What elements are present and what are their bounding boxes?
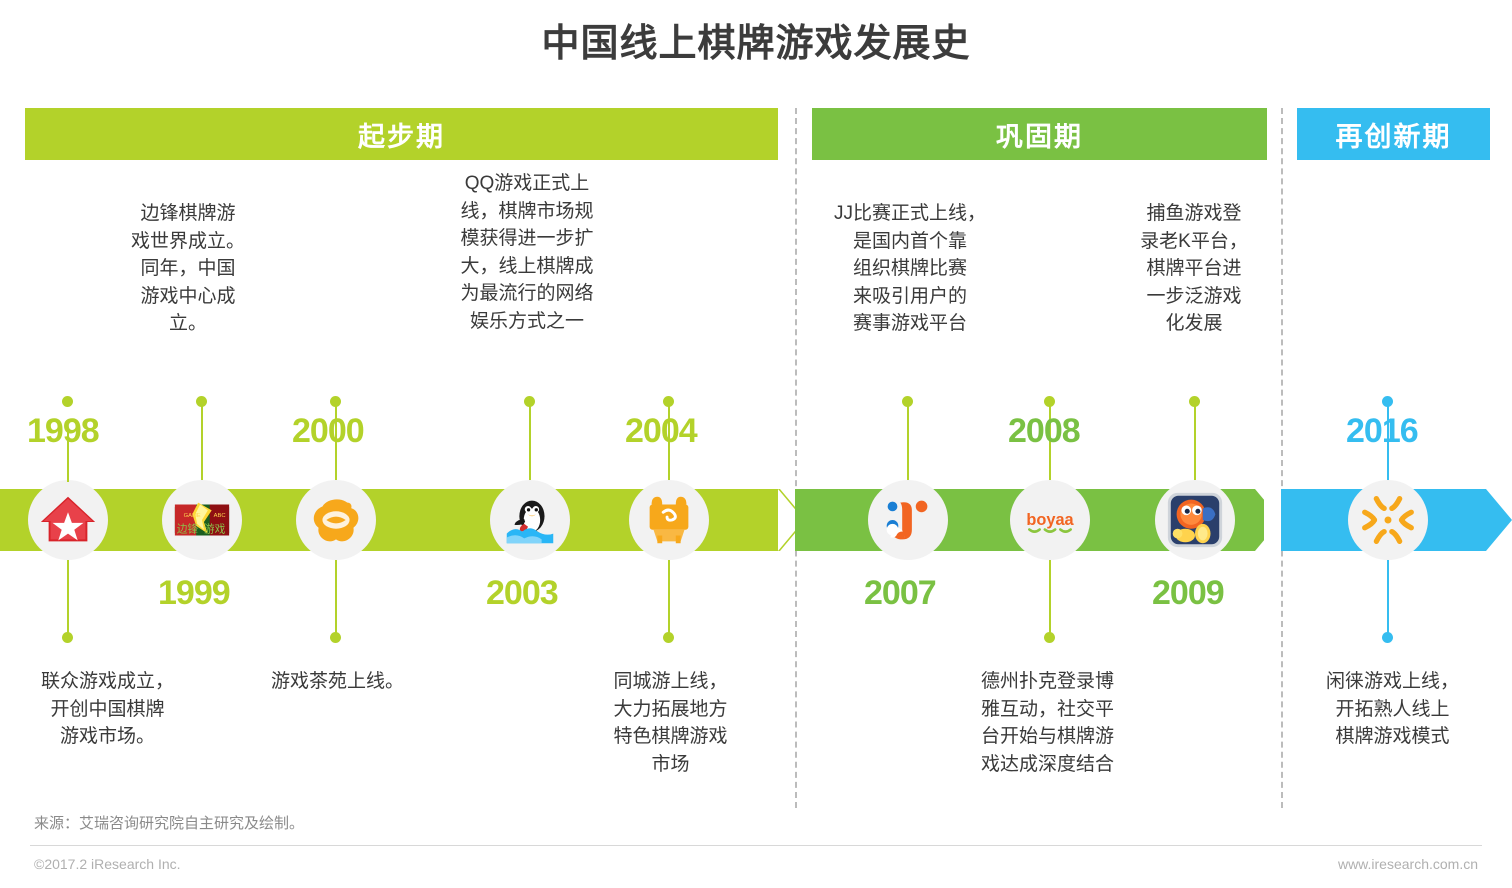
year-label-2000: 2000 <box>292 412 364 451</box>
timeline-node-2016[interactable] <box>1348 480 1428 560</box>
bianfeng-game-logo-icon: GAME ABC 边锋 游戏 <box>171 489 233 551</box>
page-title: 中国线上棋牌游戏发展史 <box>0 12 1512 67</box>
event-text-2003: 同城游上线， 大力拓展地方 特色棋牌游戏 市场 <box>578 668 763 778</box>
event-text-1998: 边锋棋牌游 戏世界成立。 同年，中国 游戏中心成 立。 <box>88 200 288 338</box>
timeline-node-2007[interactable] <box>868 480 948 560</box>
fish-game-icon <box>1164 489 1226 551</box>
phase-label: 再创新期 <box>1336 115 1452 154</box>
connector-dot-1999 <box>196 396 207 407</box>
timeline-node-1998[interactable] <box>28 480 108 560</box>
year-label-2016: 2016 <box>1346 412 1418 451</box>
timeline-node-1999[interactable]: GAME ABC 边锋 游戏 <box>162 480 242 560</box>
year-label-1998: 1998 <box>27 412 99 451</box>
year-label-2003: 2003 <box>486 574 558 613</box>
segment-arrow-head <box>1486 489 1512 551</box>
connector-dot-1999-desc <box>62 632 73 643</box>
event-text-2007: JJ比赛正式上线， 是国内首个靠 组织棋牌比赛 来吸引用户的 赛事游戏平台 <box>790 200 1030 338</box>
timeline-node-2003[interactable] <box>490 480 570 560</box>
event-text-2016: 闲徕游戏上线， 开拓熟人线上 棋牌游戏模式 <box>1285 668 1500 751</box>
jj-match-logo-icon <box>877 489 939 551</box>
connector-stem-2003-top <box>529 400 531 480</box>
connector-stem-2003-desc <box>668 560 670 640</box>
svg-text:边锋: 边锋 <box>177 523 199 536</box>
boyaa-logo-icon: boyaa <box>1019 489 1081 551</box>
event-text-1999: 联众游戏成立， 开创中国棋牌 游戏市场。 <box>0 668 215 751</box>
svg-text:GAME: GAME <box>184 513 201 519</box>
phase-header-consolidation: 巩固期 <box>812 108 1267 160</box>
connector-dot-2000-desc <box>330 632 341 643</box>
connector-stem-1999-desc <box>67 560 69 640</box>
year-label-2009: 2009 <box>1152 574 1224 613</box>
qq-penguin-icon <box>499 489 561 551</box>
connector-stem-2016-desc <box>1387 560 1389 640</box>
connector-dot-2007 <box>902 396 913 407</box>
svg-text:ABC: ABC <box>214 513 226 519</box>
phase-header-startup: 起步期 <box>25 108 778 160</box>
liange-house-icon <box>37 489 99 551</box>
svg-text:游戏: 游戏 <box>204 523 226 536</box>
connector-dot-2003-top <box>524 396 535 407</box>
connector-dot-2016-top <box>1382 396 1393 407</box>
infographic-canvas: 中国线上棋牌游戏发展史 起步期 巩固期 再创新期 <box>0 0 1512 888</box>
phase-label: 巩固期 <box>996 115 1083 154</box>
timeline-node-2004[interactable] <box>629 480 709 560</box>
year-label-2007: 2007 <box>864 574 936 613</box>
connector-dot-2008-desc <box>1044 632 1055 643</box>
connector-dot-2009 <box>1189 396 1200 407</box>
website-url: www.iresearch.com.cn <box>1338 856 1478 872</box>
connector-stem-2000-desc <box>335 560 337 640</box>
timeline-node-2000[interactable] <box>296 480 376 560</box>
connector-stem-2009 <box>1194 400 1196 480</box>
event-text-2008: 德州扑克登录博 雅互动，社交平 台开始与棋牌游 戏达成深度结合 <box>930 668 1165 778</box>
timeline-node-2009[interactable] <box>1155 480 1235 560</box>
source-note: 来源：艾瑞咨询研究院自主研究及绘制。 <box>34 812 304 833</box>
year-label-1999: 1999 <box>158 574 230 613</box>
connector-dot-2004 <box>663 396 674 407</box>
event-text-2000: QQ游戏正式上 线，棋牌市场规 模获得进一步扩 大，线上棋牌成 为最流行的网络 … <box>412 170 642 335</box>
connector-dot-1998 <box>62 396 73 407</box>
connector-dot-2003-desc <box>663 632 674 643</box>
event-text-2000-below: 游戏茶苑上线。 <box>235 668 440 696</box>
year-label-2004: 2004 <box>625 412 697 451</box>
svg-text:boyaa: boyaa <box>1026 511 1074 529</box>
tongchengyou-ding-icon <box>638 489 700 551</box>
footer-divider <box>30 845 1482 846</box>
copyright-text: ©2017.2 iResearch Inc. <box>34 856 181 872</box>
connector-dot-2016-desc <box>1382 632 1393 643</box>
phase-label: 起步期 <box>358 115 445 154</box>
youxichayuan-logo-icon <box>305 489 367 551</box>
connector-dot-2008-top <box>1044 396 1055 407</box>
xianlai-starburst-icon <box>1357 489 1419 551</box>
connector-stem-2007 <box>907 400 909 480</box>
year-label-2008: 2008 <box>1008 412 1080 451</box>
timeline-node-2008[interactable]: boyaa <box>1010 480 1090 560</box>
phase-header-reinnovation: 再创新期 <box>1297 108 1490 160</box>
connector-dot-2000 <box>330 396 341 407</box>
connector-stem-2008-desc <box>1049 560 1051 640</box>
connector-stem-1999 <box>201 400 203 480</box>
event-text-2009: 捕鱼游戏登 录老K平台， 棋牌平台进 一步泛游戏 化发展 <box>1094 200 1294 338</box>
